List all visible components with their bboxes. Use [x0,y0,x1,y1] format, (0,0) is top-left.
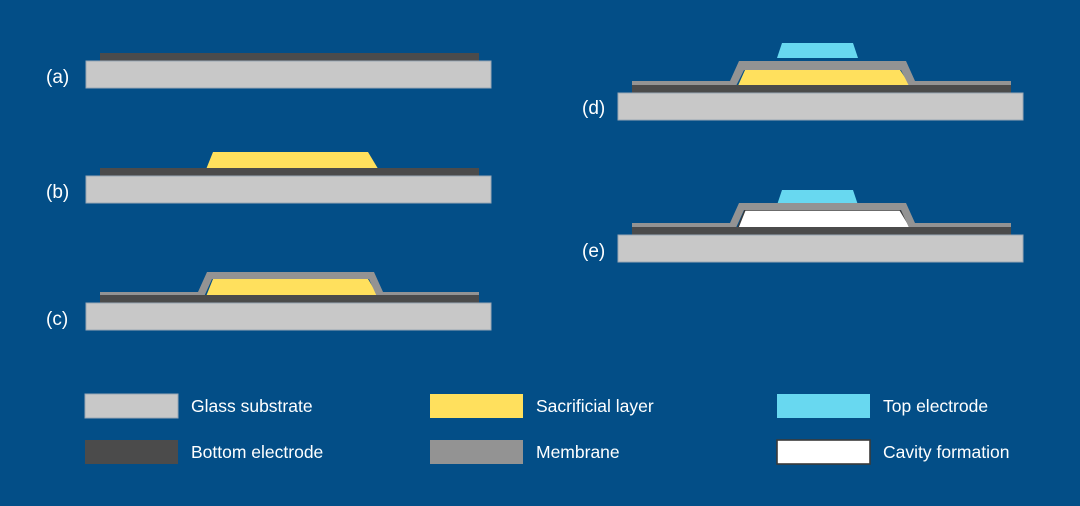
legend-swatch-bottom-electrode [85,440,178,464]
panel-a: (a) [46,53,491,88]
legend-label-glass-substrate: Glass substrate [191,396,313,416]
panel-a-glass-substrate [86,61,491,88]
process-flow-svg: (a) (b) (c) (d) [0,0,1080,506]
panel-b-glass-substrate [86,176,491,203]
process-flow-figure: (a) (b) (c) (d) [0,0,1080,506]
legend-item-bottom-electrode: Bottom electrode [85,440,323,464]
panel-b-label: (b) [46,182,69,203]
legend-swatch-membrane [430,440,523,464]
legend-label-cavity-formation: Cavity formation [883,442,1009,462]
legend-label-bottom-electrode: Bottom electrode [191,442,323,462]
panel-c-label: (c) [46,309,68,330]
legend-item-top-electrode: Top electrode [777,394,988,418]
legend-label-membrane: Membrane [536,442,620,462]
panel-e-glass-substrate [618,235,1023,262]
panel-d-top-electrode [777,43,858,58]
legend-swatch-sacrificial-layer [430,394,523,418]
legend-item-cavity-formation: Cavity formation [777,440,1009,464]
legend-label-top-electrode: Top electrode [883,396,988,416]
panel-a-label: (a) [46,67,69,88]
panel-d-glass-substrate [618,93,1023,120]
panel-e-top-electrode [777,190,858,205]
legend-swatch-top-electrode [777,394,870,418]
panel-d-label: (d) [582,98,605,119]
legend-swatch-glass-substrate [85,394,178,418]
panel-e-label: (e) [582,241,605,262]
legend-label-sacrificial-layer: Sacrificial layer [536,396,654,416]
panel-c-glass-substrate [86,303,491,330]
legend-item-glass-substrate: Glass substrate [85,394,313,418]
legend-item-sacrificial-layer: Sacrificial layer [430,394,654,418]
legend-swatch-cavity-formation [777,440,870,464]
